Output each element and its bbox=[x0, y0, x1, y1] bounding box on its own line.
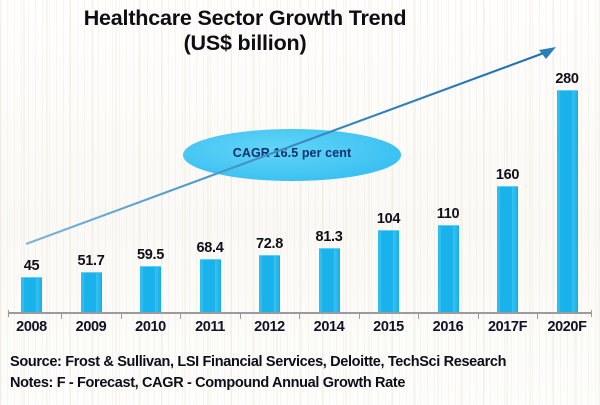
plot-area: 4551.759.568.472.881.3104110160280 CAGR … bbox=[0, 0, 600, 330]
notes-line: Notes: F - Forecast, CAGR - Compound Ann… bbox=[10, 373, 596, 394]
bar-2011 bbox=[200, 259, 221, 313]
bar-2020F bbox=[557, 90, 578, 313]
bar-value-label: 280 bbox=[545, 71, 589, 87]
x-tick-label-2012: 2012 bbox=[242, 319, 298, 335]
footnotes: Source: Frost & Sullivan, LSI Financial … bbox=[10, 352, 596, 394]
bar-2010 bbox=[140, 266, 161, 313]
bar-2015 bbox=[378, 230, 399, 313]
x-tick-label-2014: 2014 bbox=[301, 319, 357, 335]
bar-value-label: 104 bbox=[367, 211, 411, 227]
bar-value-label: 59.5 bbox=[129, 247, 173, 263]
axis-cap-right bbox=[591, 310, 592, 317]
chart-image: Healthcare Sector Growth Trend (US$ bill… bbox=[0, 0, 600, 405]
bar-value-label: 110 bbox=[426, 206, 470, 222]
trend-arrow-head bbox=[539, 47, 556, 59]
x-tick-label-2017F: 2017F bbox=[480, 319, 536, 335]
x-tick-label-2020F: 2020F bbox=[539, 319, 595, 335]
bar-2017F bbox=[497, 186, 518, 313]
bar-value-label: 68.4 bbox=[188, 240, 232, 256]
bar-value-label: 45 bbox=[10, 258, 54, 274]
bar-value-label: 81.3 bbox=[307, 229, 351, 245]
x-tick-label-2016: 2016 bbox=[420, 319, 476, 335]
bar-2016 bbox=[438, 225, 459, 313]
x-tick-label-2010: 2010 bbox=[123, 319, 179, 335]
bar-value-label: 160 bbox=[486, 167, 530, 183]
x-tick-label-2011: 2011 bbox=[182, 319, 238, 335]
cagr-callout-label: CAGR 16.5 per cent bbox=[183, 146, 401, 160]
bar-value-label: 51.7 bbox=[69, 253, 113, 269]
x-tick-label-2008: 2008 bbox=[4, 319, 60, 335]
bar-2012 bbox=[259, 255, 280, 313]
bar-2008 bbox=[21, 277, 42, 313]
bar-value-label: 72.8 bbox=[248, 236, 292, 252]
x-tick-label-2015: 2015 bbox=[361, 319, 417, 335]
bar-2009 bbox=[81, 272, 102, 313]
source-line: Source: Frost & Sullivan, LSI Financial … bbox=[10, 352, 596, 373]
x-tick-label-2009: 2009 bbox=[63, 319, 119, 335]
bar-2014 bbox=[319, 248, 340, 313]
